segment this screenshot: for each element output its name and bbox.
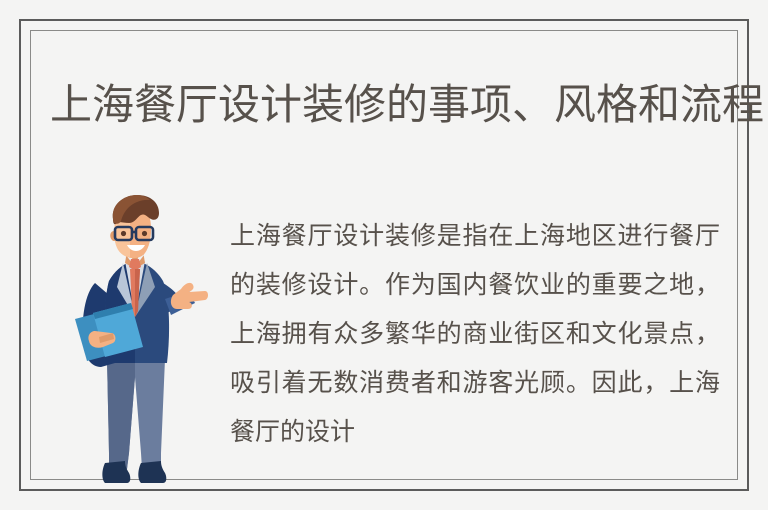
article-card: 上海餐厅设计装修的事项、风格和流程 (19, 19, 749, 491)
businessman-presenting-illustration (69, 191, 209, 491)
trousers-shadow-icon (107, 359, 135, 469)
hand-right-icon (171, 283, 208, 309)
article-content-row: 上海餐厅设计装修是指在上海地区进行餐厅的装修设计。作为国内餐饮业的重要之地，上海… (21, 171, 751, 491)
page-title: 上海餐厅设计装修的事项、风格和流程 (50, 79, 768, 131)
shoe-right-icon (138, 461, 166, 483)
article-body-text: 上海餐厅设计装修是指在上海地区进行餐厅的装修设计。作为国内餐饮业的重要之地，上海… (230, 212, 720, 457)
